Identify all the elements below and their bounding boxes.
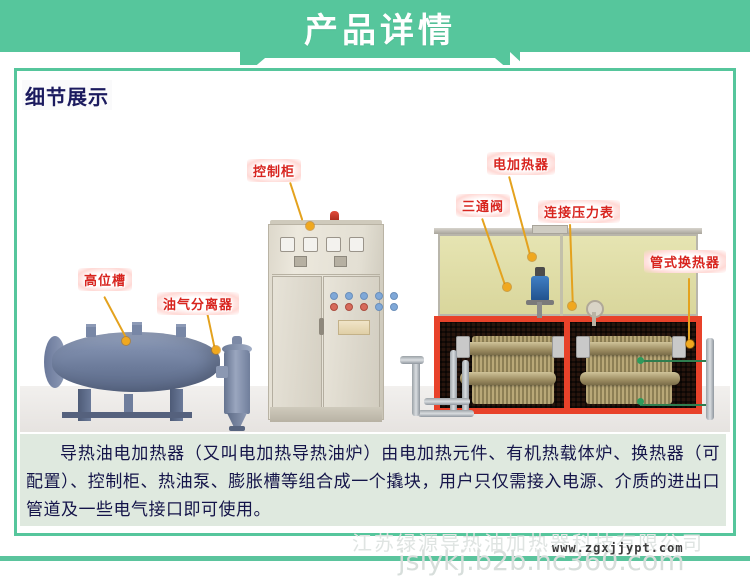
callout-high-level-tank: 高位槽 xyxy=(78,268,132,291)
section-title: 细节展示 xyxy=(22,80,112,111)
right-riser-pipe xyxy=(706,338,714,420)
three-way-valve-body xyxy=(531,276,549,302)
green-outlet-pipe xyxy=(640,360,710,406)
leader-dot-tube-heat-exchanger xyxy=(686,340,694,348)
skid-vent xyxy=(532,225,568,234)
leader-dot-high-level-tank xyxy=(122,337,130,345)
callout-electric-heater: 电加热器 xyxy=(487,152,555,175)
heat-exchanger-tube xyxy=(460,342,556,355)
watermark-site-url: www.zgxjjypt.com xyxy=(552,541,684,555)
cabinet-meter xyxy=(280,237,295,252)
skid-pipe xyxy=(424,398,470,405)
cabinet-button-row xyxy=(330,292,398,300)
heater-frame-divider xyxy=(564,316,570,414)
cabinet-nameplate xyxy=(338,320,370,335)
leader-line-tube-heat-exchanger xyxy=(688,278,690,344)
inlet-elbow xyxy=(400,356,424,364)
callout-oil-gas-separator: 油气分离器 xyxy=(157,292,239,315)
cabinet-button xyxy=(345,292,353,300)
tank-nozzle xyxy=(176,324,186,337)
product-description: 导热油电加热器（又叫电加热导热油炉）由电加热元件、有机热载体炉、换热器（可配置）… xyxy=(20,434,726,526)
oil-gas-separator-body xyxy=(224,350,250,414)
callout-control-cabinet: 控制柜 xyxy=(247,159,301,182)
cabinet-button xyxy=(375,303,383,311)
cabinet-plinth xyxy=(270,407,382,422)
skid-pipe xyxy=(418,410,474,417)
banner-notch-left xyxy=(226,52,240,65)
callout-three-way-valve: 三通阀 xyxy=(456,194,510,217)
callout-tube-heat-exchanger: 管式换热器 xyxy=(644,250,726,273)
cabinet-button xyxy=(330,292,338,300)
cabinet-button xyxy=(390,292,398,300)
cabinet-meter xyxy=(326,237,341,252)
cabinet-button xyxy=(330,303,338,311)
heat-exchanger-tube xyxy=(580,342,680,355)
leader-dot-electric-heater xyxy=(528,253,536,261)
leader-dot-control-cabinet xyxy=(306,222,314,230)
green-pipe-joint xyxy=(637,398,644,405)
tank-base-rail xyxy=(62,412,192,418)
pressure-gauge-stem xyxy=(592,312,596,326)
separator-foot xyxy=(229,426,245,431)
cabinet-meter xyxy=(303,237,318,252)
separator-flange xyxy=(216,366,228,378)
product-detail-page: 产品详情 细节展示 xyxy=(0,0,750,575)
tube-flange xyxy=(456,336,470,358)
tank-nozzle xyxy=(132,322,142,335)
leader-dot-pressure-gauge xyxy=(568,302,576,310)
product-description-text: 导热油电加热器（又叫电加热导热油炉）由电加热元件、有机热载体炉、换热器（可配置）… xyxy=(26,440,720,524)
cabinet-button xyxy=(360,292,368,300)
heater-panel-divider xyxy=(560,234,563,316)
green-pipe-joint xyxy=(637,357,644,364)
cabinet-meter xyxy=(349,237,364,252)
cabinet-button xyxy=(360,303,368,311)
heat-exchanger-tube xyxy=(460,372,556,385)
cabinet-switch xyxy=(294,256,307,267)
tank-nozzle xyxy=(86,324,96,337)
three-way-valve-stem xyxy=(537,302,542,318)
cabinet-switch xyxy=(334,256,347,267)
high-level-tank-body xyxy=(52,332,220,392)
page-title: 产品详情 xyxy=(240,2,520,52)
tube-flange xyxy=(576,336,590,358)
inlet-pipe xyxy=(412,360,420,416)
cabinet-door-left xyxy=(272,276,322,408)
cabinet-button-row xyxy=(330,303,398,311)
cabinet-door-handle xyxy=(319,318,324,335)
cabinet-button xyxy=(390,303,398,311)
leader-dot-oil-gas-separator xyxy=(212,346,220,354)
callout-pressure-gauge-connection: 连接压力表 xyxy=(538,200,620,223)
tube-flange xyxy=(672,336,686,358)
cabinet-button xyxy=(375,292,383,300)
cabinet-button xyxy=(345,303,353,311)
leader-dot-three-way-valve xyxy=(503,283,511,291)
